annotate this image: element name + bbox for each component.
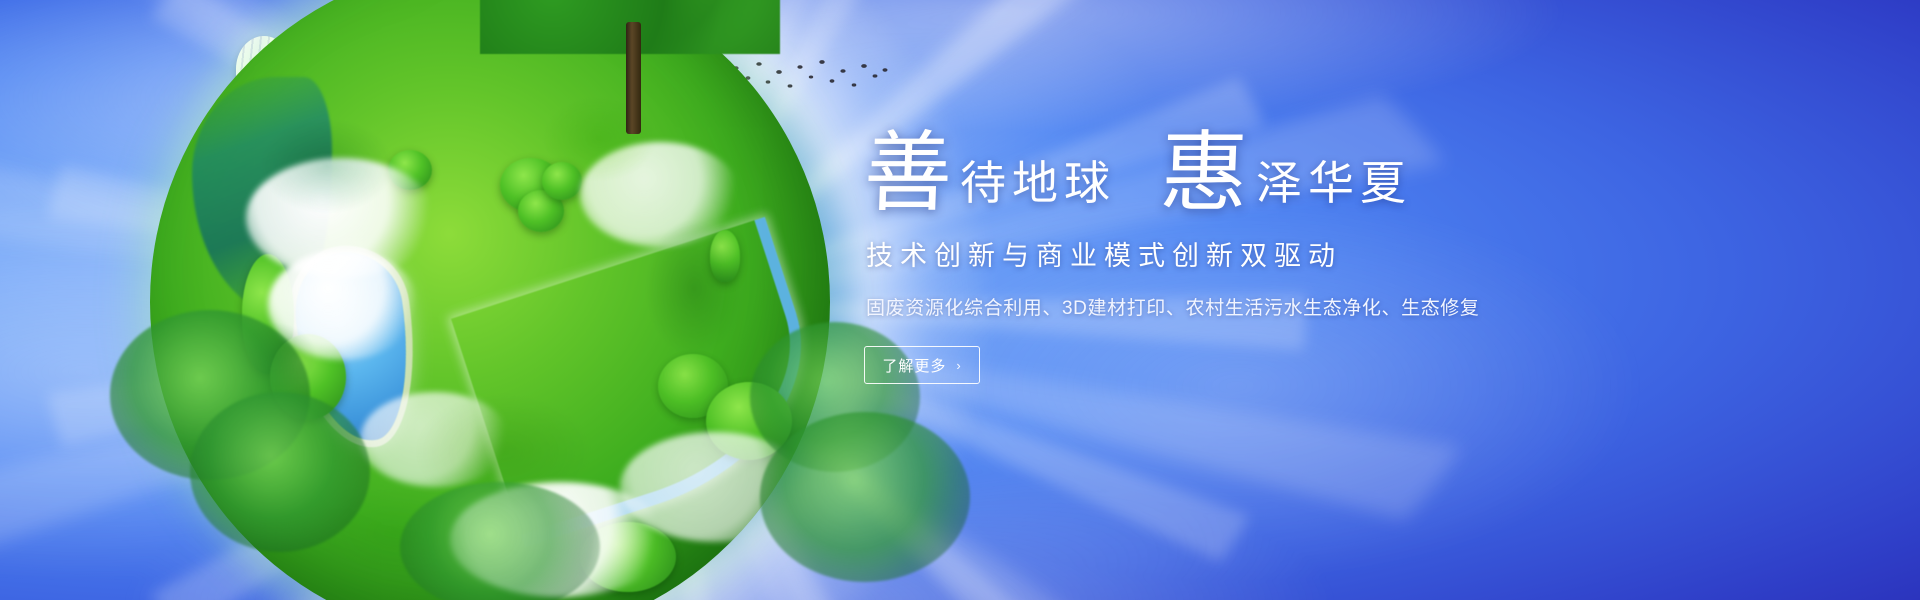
headline-text-2: 泽华夏 — [1256, 161, 1412, 216]
silhouette-tree — [190, 392, 370, 552]
learn-more-button[interactable]: 了解更多 › — [864, 346, 980, 384]
large-tree — [480, 0, 780, 84]
green-earth-globe — [150, 0, 830, 600]
headline-char-1: 善 — [863, 135, 954, 216]
bush-clump — [710, 230, 740, 282]
globe-cloud — [580, 142, 740, 247]
globe-cloud — [246, 158, 436, 278]
bush-clump — [518, 190, 564, 232]
bush-clump — [658, 354, 728, 418]
learn-more-label: 了解更多 — [882, 355, 946, 376]
globe-cloud — [360, 392, 510, 487]
banner-copy: 善 待地球 惠 泽华夏 技术创新与商业模式创新双驱动 固废资源化综合利用、3D建… — [862, 120, 1762, 384]
headline-char-2: 惠 — [1159, 135, 1250, 216]
bush-clump — [500, 158, 562, 212]
chevron-right-icon: › — [956, 358, 961, 373]
hero-banner: 善 待地球 惠 泽华夏 技术创新与商业模式创新双驱动 固废资源化综合利用、3D建… — [0, 0, 1920, 600]
description: 固废资源化综合利用、3D建材打印、农村生活污水生态净化、生态修复 — [866, 293, 1762, 320]
silhouette-tree — [760, 412, 970, 582]
bush-clump — [388, 150, 432, 190]
subtitle: 技术创新与商业模式创新双驱动 — [866, 234, 1762, 273]
globe-cloud — [268, 250, 418, 360]
silhouette-tree — [400, 482, 600, 600]
mountain-range — [192, 77, 332, 317]
headline: 善 待地球 惠 泽华夏 — [864, 120, 1762, 216]
tree-trunk — [626, 22, 641, 134]
headline-text-1: 待地球 — [960, 161, 1116, 216]
bush-clump — [542, 162, 582, 200]
